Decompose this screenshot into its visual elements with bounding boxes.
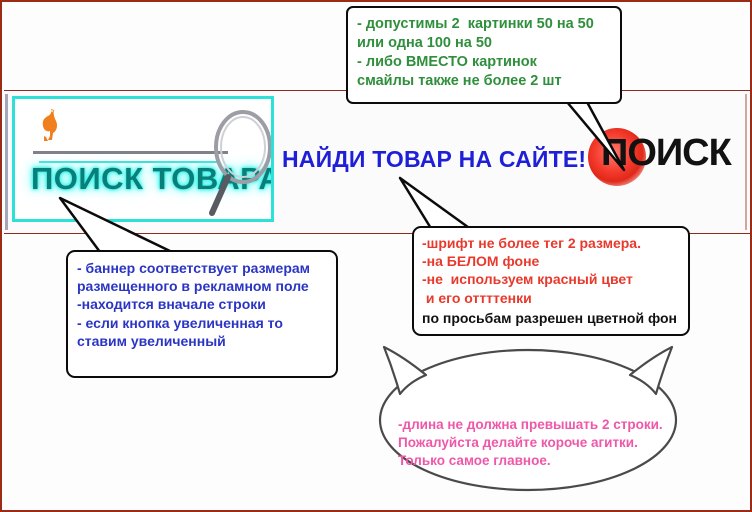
search-product-banner[interactable]: ПОИСК ТОВАРА: [12, 96, 274, 222]
screenshot-canvas: ПОИСК ТОВАРА НАЙДИ ТОВАР НА САЙТЕ! ПОИСК…: [0, 0, 752, 512]
callout-images-rules: - допустимы 2 картинки 50 на 50 или одна…: [346, 6, 622, 104]
page-headline: НАЙДИ ТОВАР НА САЙТЕ!: [282, 146, 586, 173]
callout-banner-rules-text: - баннер соответствует размерам размещен…: [77, 259, 327, 350]
callout-length-rules: -длина не должна превышать 2 строки. Пож…: [398, 416, 668, 469]
callout-font-rules: -шрифт не более тег 2 размера. -на БЕЛОМ…: [412, 226, 690, 336]
banner-divider-line: [33, 151, 228, 154]
callout-banner-rules: - баннер соответствует размерам размещен…: [66, 250, 338, 378]
poisk-logo[interactable]: ПОИСК: [588, 126, 748, 186]
ad-row-left-edge: [5, 94, 8, 230]
callout-length-rules-text: -длина не должна превышать 2 строки. Пож…: [398, 416, 668, 469]
magnifying-glass-icon: [203, 101, 274, 222]
callout-images-rules-text: - допустимы 2 картинки 50 на 50 или одна…: [357, 15, 611, 90]
callout-font-rules-text: -шрифт не более тег 2 размера. -на БЕЛОМ…: [422, 234, 680, 307]
callout-font-rules-footer: по просьбам разрешен цветной фон: [422, 309, 680, 327]
orange-bird-icon: [35, 107, 61, 143]
poisk-logo-text: ПОИСК: [601, 132, 731, 175]
